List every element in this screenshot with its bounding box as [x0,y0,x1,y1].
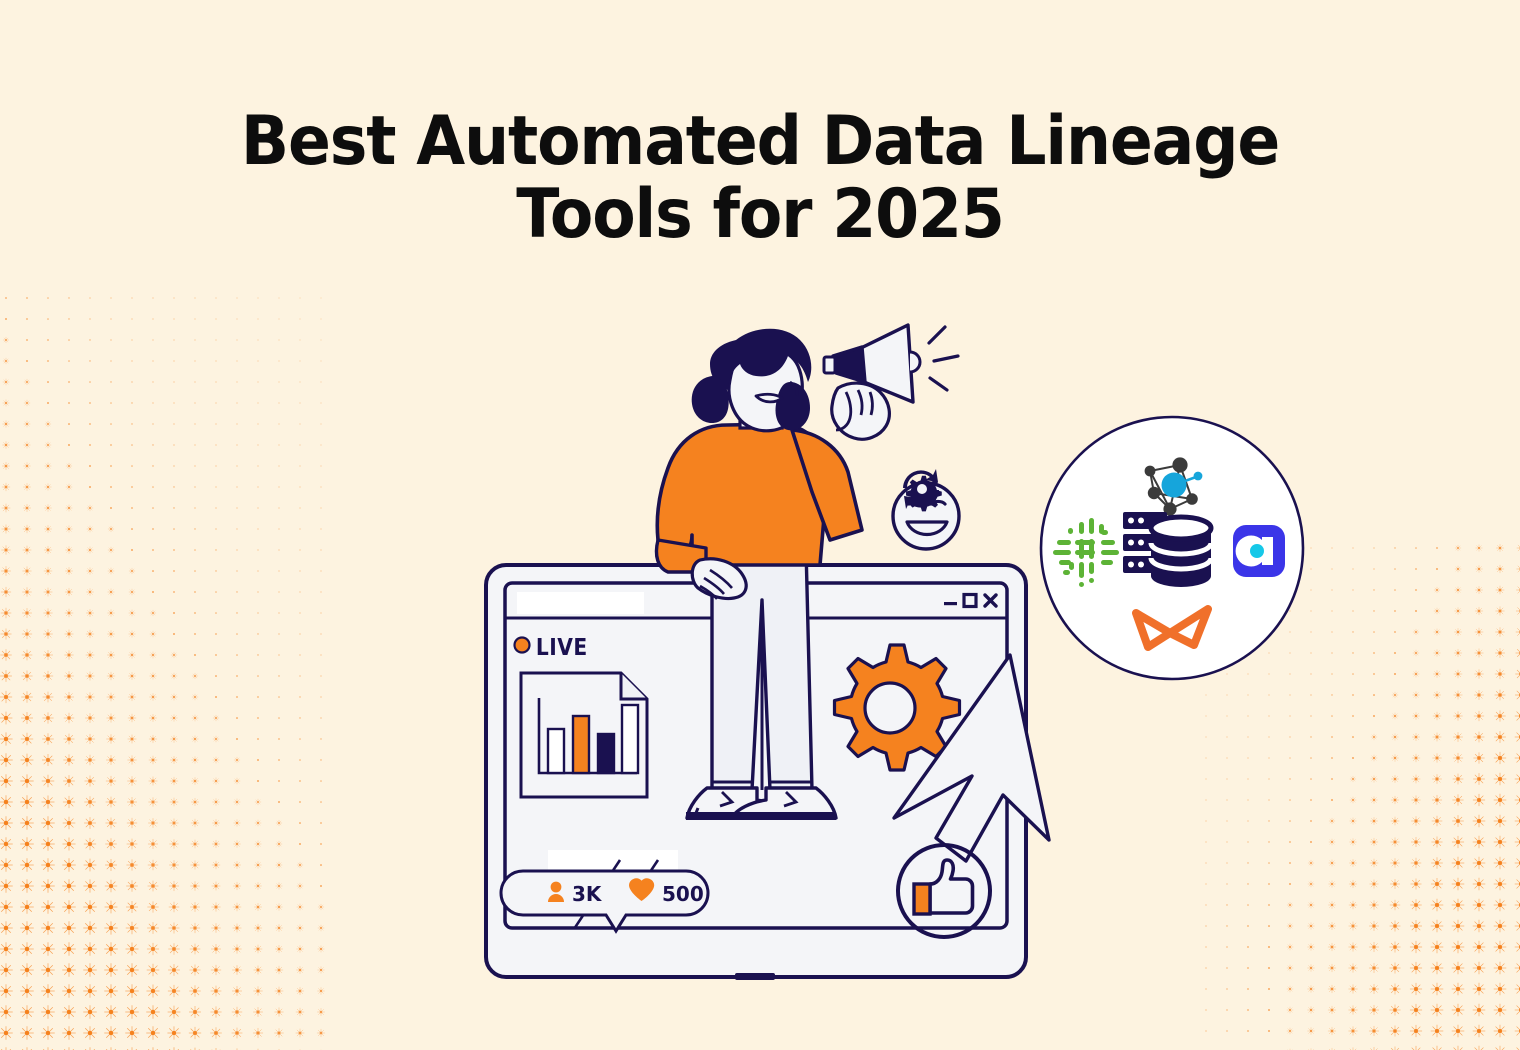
stat-likes-value: 500 [662,882,704,906]
bar-chart-document [521,673,647,797]
megaphone-hand [832,383,890,439]
chart-bar-1 [548,729,564,773]
lineage-tools-circle [1037,413,1307,683]
live-badge-label: LIVE [536,635,588,662]
page-canvas: Best Automated Data Lineage Tools for 20… [0,0,1520,1050]
titlebar-placeholder [517,592,644,614]
smiley-gear-icon [893,469,959,549]
chart-bar-3 [598,734,614,773]
chart-bar-2 [573,716,589,773]
megaphone-sound-lines [929,327,958,390]
hair-side-left [692,376,729,423]
minimize-icon [944,602,957,605]
hair-side-right [776,382,811,430]
database-cylinder [1151,517,1211,587]
blue-app-a-logo [1233,525,1285,577]
stat-followers-value: 3K [572,882,603,906]
chart-bar-4 [622,705,638,773]
